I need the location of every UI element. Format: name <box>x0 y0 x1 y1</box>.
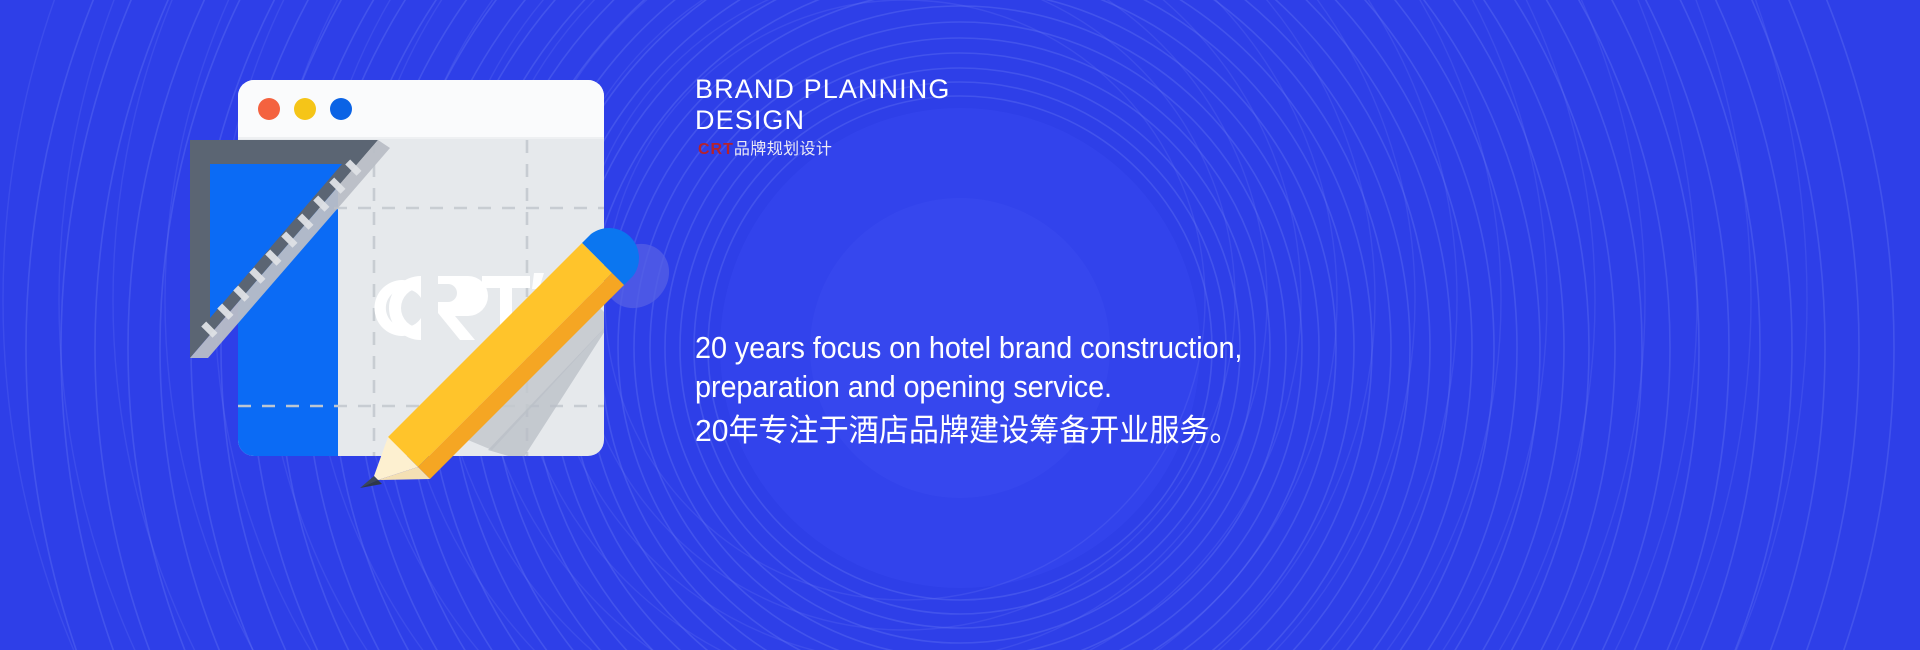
text-column: BRAND PLANNINGDESIGN CRT品牌规划设计 20 years … <box>695 0 1795 650</box>
subheading-brand: CRT <box>698 141 734 158</box>
headline-line-1: BRAND PLANNING <box>695 74 950 104</box>
body-copy: 20 years focus on hotel brand constructi… <box>695 328 1695 454</box>
minimize-dot <box>294 98 316 120</box>
window-control-dots <box>258 98 352 120</box>
maximize-dot <box>330 98 352 120</box>
headline: BRAND PLANNINGDESIGN <box>695 74 950 136</box>
close-dot <box>258 98 280 120</box>
body-english-line-2: preparation and opening service. <box>695 367 1625 406</box>
body-english-line-1: 20 years focus on hotel brand constructi… <box>695 328 1625 367</box>
brand-banner: BRAND PLANNINGDESIGN CRT品牌规划设计 20 years … <box>0 0 1920 650</box>
body-chinese: 20年专注于酒店品牌建设筹备开业服务。 <box>695 408 1665 454</box>
brand-illustration <box>182 68 702 468</box>
body-english: 20 years focus on hotel brand constructi… <box>695 328 1625 406</box>
subheading: CRT品牌规划设计 <box>698 140 832 160</box>
subheading-chinese: 品牌规划设计 <box>734 141 832 158</box>
headline-line-2: DESIGN <box>695 105 805 135</box>
